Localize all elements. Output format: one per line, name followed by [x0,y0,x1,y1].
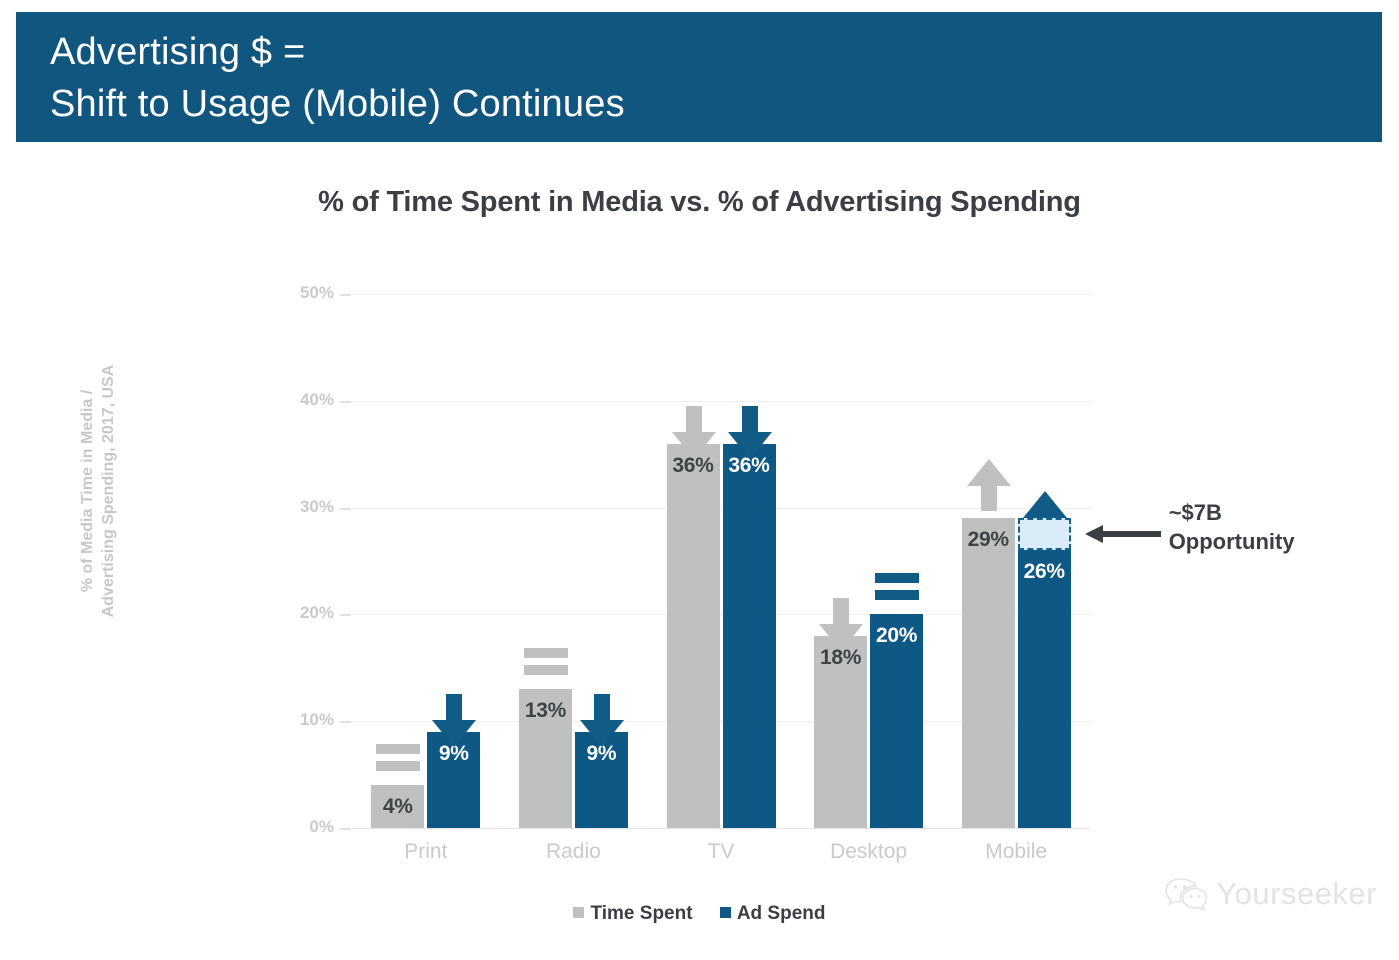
bar-tv-ad-spend[interactable] [723,444,776,828]
y-tick-label-20%: 20% [276,603,334,623]
y-tick-mark-10% [340,721,351,723]
trend-marker-up-mobile-time-spent [965,458,1013,512]
wechat-icon [1165,877,1207,911]
watermark-text: Yourseeker [1216,876,1377,912]
legend-item-time-spent[interactable]: Time Spent [573,903,692,925]
bar-group-desktop: 18%20% [814,0,923,828]
trend-marker-down-tv-ad-spend [726,406,774,460]
legend-label-ad-spend: Ad Spend [737,903,826,924]
x-category-label-radio: Radio [493,840,653,864]
opportunity-amount: ~$7B [1169,498,1295,527]
y-axis-title-line-1: % of Media Time in Media / [77,331,98,651]
opportunity-box [1018,518,1071,550]
legend-item-ad-spend[interactable]: Ad Spend [720,903,826,925]
trend-marker-equals-radio-time-spent [522,643,570,681]
y-tick-mark-50% [340,294,351,296]
trend-marker-down-tv-time-spent [670,406,718,460]
bar-tv-time-spent[interactable] [667,444,720,828]
trend-marker-down-desktop-time-spent [817,598,865,652]
bar-group-print: 4%9% [371,0,480,828]
x-category-label-print: Print [346,840,506,864]
bar-label-desktop-ad-spend: 20% [870,624,923,648]
trend-marker-equals-print-time-spent [374,739,422,777]
bar-label-radio-time-spent: 13% [519,699,572,723]
x-category-label-mobile: Mobile [936,840,1096,864]
y-tick-label-10%: 10% [276,710,334,730]
y-axis-title: % of Media Time in Media / Advertising S… [77,331,119,651]
y-tick-mark-0% [340,828,351,830]
bar-group-mobile: 29%26% [962,0,1071,828]
bar-label-mobile-time-spent: 29% [962,528,1015,552]
y-tick-label-30%: 30% [276,497,334,517]
watermark: Yourseeker [1165,876,1377,912]
trend-marker-equals-desktop-ad-spend [873,568,921,606]
legend-label-time-spent: Time Spent [590,903,692,924]
chart-plot-area: % of Media Time in Media / Advertising S… [0,0,1399,960]
y-tick-mark-20% [340,614,351,616]
opportunity-callout: ~$7B Opportunity [1169,498,1295,556]
y-tick-mark-40% [340,401,351,403]
opportunity-label: Opportunity [1169,527,1295,556]
gridline-0% [352,828,1090,829]
bar-group-tv: 36%36% [667,0,776,828]
bar-label-print-time-spent: 4% [371,795,424,819]
bar-label-mobile-ad-spend: 26% [1018,560,1071,584]
y-tick-mark-30% [340,508,351,510]
trend-marker-down-radio-ad-spend [578,694,626,748]
bar-mobile-ad-spend[interactable] [1018,550,1071,828]
legend-swatch-ad-spend [720,907,731,918]
y-tick-label-40%: 40% [276,390,334,410]
bar-mobile-time-spent[interactable] [962,518,1015,828]
y-tick-label-50%: 50% [276,283,334,303]
trend-marker-down-print-ad-spend [430,694,478,748]
legend-swatch-time-spent [573,907,584,918]
x-category-label-desktop: Desktop [789,840,949,864]
y-axis-title-line-2: Advertising Spending, 2017, USA [98,331,119,651]
opportunity-arrow-icon [1085,524,1161,544]
x-category-label-tv: TV [641,840,801,864]
y-tick-label-0%: 0% [276,817,334,837]
bar-group-radio: 13%9% [519,0,628,828]
